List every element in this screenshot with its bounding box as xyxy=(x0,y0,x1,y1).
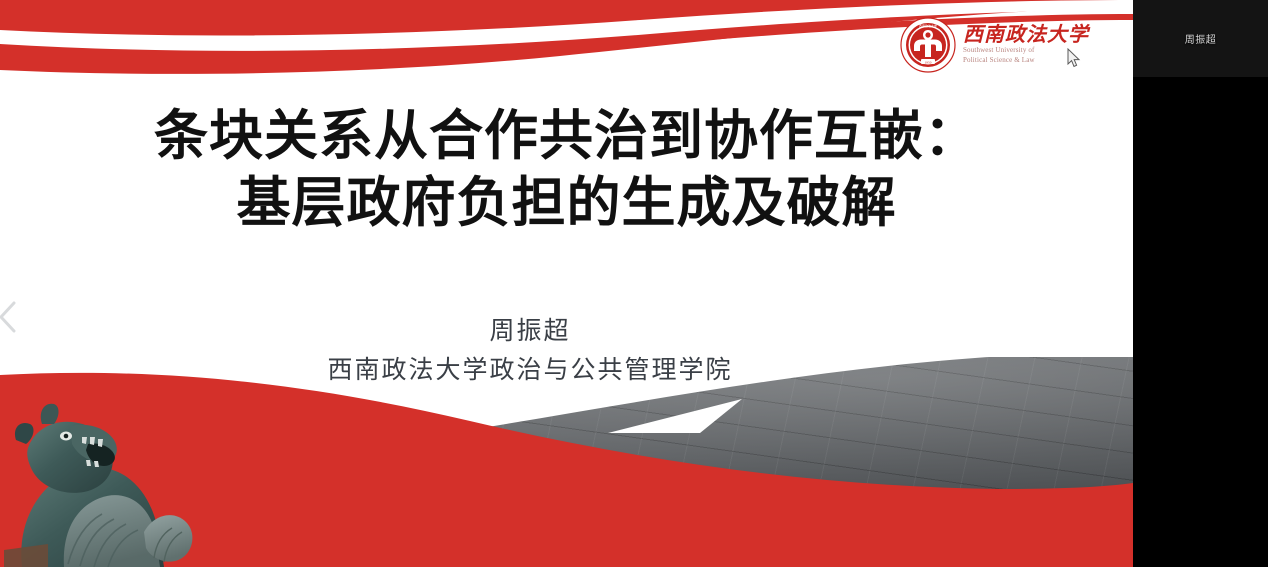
participant-name: 周振超 xyxy=(1185,31,1217,46)
slide-author-block: 周振超 西南政法大学政治与公共管理学院 xyxy=(0,316,1060,387)
author-organization: 西南政法大学政治与公共管理学院 xyxy=(0,355,1060,386)
logo-name-cn: 西南政法大学 xyxy=(963,25,1089,46)
svg-text:1950: 1950 xyxy=(925,60,932,64)
author-name: 周振超 xyxy=(0,316,1060,347)
svg-text:西南政法大学: 西南政法大学 xyxy=(919,23,937,28)
university-emblem-icon: 1950 西南政法大学 xyxy=(900,17,956,73)
participant-tile[interactable]: 周振超 xyxy=(1133,0,1268,77)
chevron-left-icon[interactable] xyxy=(0,300,20,334)
university-logo: 1950 西南政法大学 西南政法大学 Southwest University … xyxy=(900,17,1089,73)
slide-title: 条块关系从合作共治到协作互嵌： 基层政府负担的生成及破解 xyxy=(0,101,1133,237)
participants-rail: 周振超 xyxy=(1133,0,1268,567)
slide-title-line-2: 基层政府负担的生成及破解 xyxy=(0,168,1133,237)
xiezhi-statue xyxy=(4,382,244,567)
slide-title-line-1: 条块关系从合作共治到协作互嵌： xyxy=(0,101,1133,170)
shared-screen-slide[interactable]: 1950 西南政法大学 西南政法大学 Southwest University … xyxy=(0,0,1133,567)
meeting-window: 1950 西南政法大学 西南政法大学 Southwest University … xyxy=(0,0,1268,567)
arrow-cursor xyxy=(1067,48,1081,68)
